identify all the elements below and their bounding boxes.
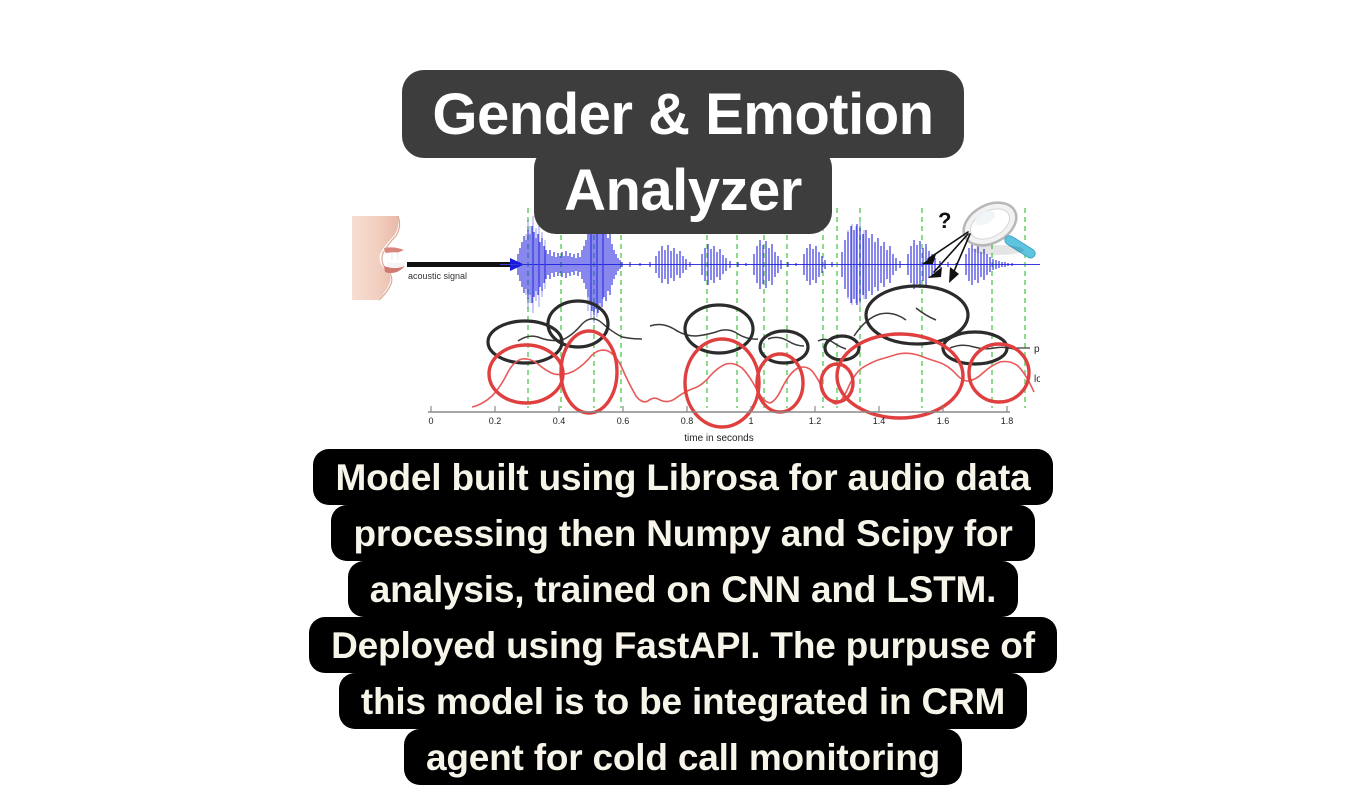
xtick-7: 1.4 <box>873 416 886 426</box>
mouth-profile-icon <box>352 216 406 300</box>
xtick-2: 0.4 <box>553 416 566 426</box>
xtick-6: 1.2 <box>809 416 822 426</box>
acoustic-signal-bar <box>407 262 510 267</box>
description-line: this model is to be integrated in CRM <box>339 673 1027 729</box>
description-line: Model built using Librosa for audio data <box>313 449 1052 505</box>
x-axis-label: time in seconds <box>684 433 753 444</box>
loudness-label: loudness <box>1034 374 1040 385</box>
page-title-line-1: Gender & Emotion <box>402 70 963 158</box>
acoustic-signal-label: acoustic signal <box>408 271 467 281</box>
question-mark-label: ? <box>938 208 951 233</box>
page-title: Gender & Emotion Analyzer <box>0 70 1366 234</box>
description-line: agent for cold call monitoring <box>404 729 962 785</box>
description-line: analysis, trained on CNN and LSTM. <box>348 561 1018 617</box>
pitch-label: pitch <box>1034 344 1040 355</box>
description-block: Model built using Librosa for audio data… <box>0 449 1366 785</box>
segment-boundary-lines <box>528 208 1025 408</box>
slide-canvas: Gender & Emotion Analyzer <box>0 0 1366 768</box>
xtick-0: 0 <box>428 416 433 426</box>
xtick-5: 1 <box>748 416 753 426</box>
xtick-4: 0.8 <box>681 416 694 426</box>
xtick-1: 0.2 <box>489 416 502 426</box>
page-title-line-2: Analyzer <box>534 146 832 234</box>
xtick-3: 0.6 <box>617 416 630 426</box>
xtick-9: 1.8 <box>1001 416 1014 426</box>
description-line: Deployed using FastAPI. The purpuse of <box>309 617 1057 673</box>
xtick-8: 1.6 <box>937 416 950 426</box>
x-axis: 0 0.2 0.4 0.6 0.8 1 1.2 1.4 1.6 1.8 time… <box>428 406 1013 444</box>
description-line: processing then Numpy and Scipy for <box>331 505 1034 561</box>
